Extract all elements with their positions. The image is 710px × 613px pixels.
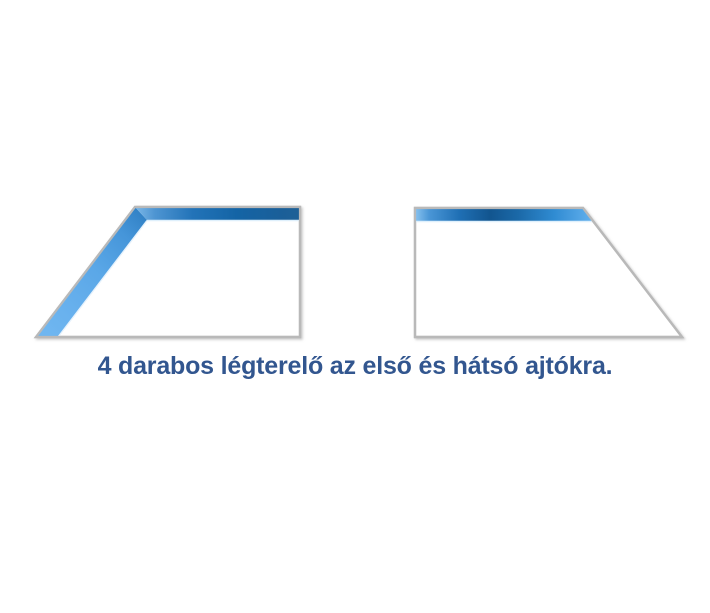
page-root: 4 darabos légterelő az első és hátsó ajt… — [0, 0, 710, 613]
front-door-outline — [36, 207, 300, 337]
rear-door-top-band — [415, 208, 593, 221]
front-door-deflector-shape — [36, 207, 300, 337]
rear-door-outline — [415, 208, 682, 337]
rear-door-deflector-shape — [415, 208, 682, 337]
product-caption: 4 darabos légterelő az első és hátsó ajt… — [0, 351, 710, 381]
wind-deflector-illustration — [0, 0, 710, 613]
front-door-top-band — [135, 207, 300, 220]
